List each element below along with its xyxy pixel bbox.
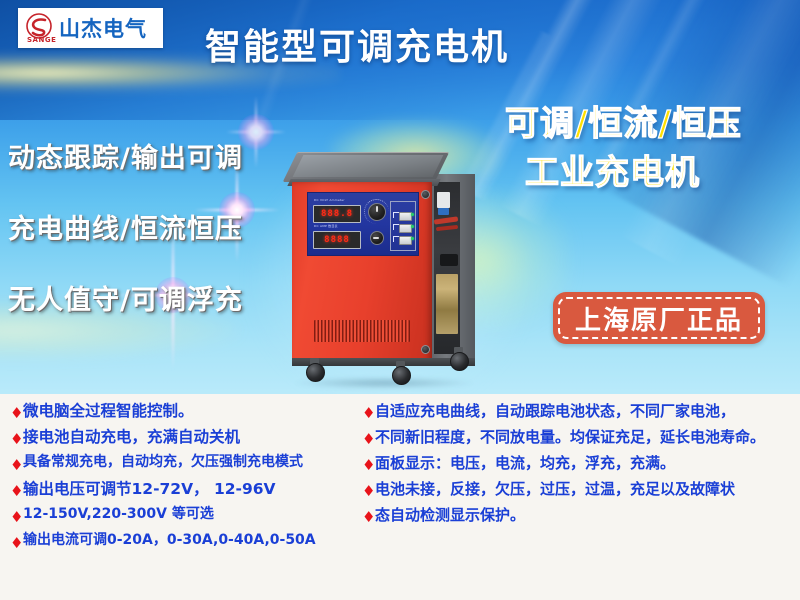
right-feature-item: 工业充电机	[525, 149, 800, 198]
ammeter-value: 8888	[324, 235, 350, 245]
diamond-bullet-icon: ♦	[362, 458, 375, 473]
spec-text: 接电池自动充电，充满自动关机	[23, 428, 240, 447]
blue-terminal-block	[438, 208, 449, 215]
spec-column-left: ♦ 微电脑全过程智能控制。 ♦ 接电池自动充电，充满自动关机 ♦ 具备常规充电，…	[10, 402, 360, 558]
caster-wheel	[450, 352, 469, 371]
spec-text: 态自动检测显示保护。	[375, 506, 525, 524]
right-feature-list: 可调/恒流/恒压 工业充电机	[505, 100, 800, 199]
voltmeter-value: 888.8	[321, 209, 353, 219]
spec-item: ♦ 输出电流可调0-20A，0-30A,0-40A,0-50A	[10, 532, 360, 551]
red-cable	[434, 216, 458, 224]
spec-text: 输出电流可调0-20A，0-30A,0-40A,0-50A	[23, 532, 316, 549]
charger-top-plate-surface	[293, 155, 444, 177]
panel-screw-icon	[421, 345, 430, 354]
product-advertisement-poster: SANGE 山杰电气 智能型可调充电机 动态跟踪/输出可调 充电曲线/恒流恒压 …	[0, 0, 800, 600]
authenticity-badge: 上海原厂正品	[553, 292, 765, 344]
brand-logo-chinese: 山杰电气	[59, 13, 147, 43]
spec-item: ♦ 微电脑全过程智能控制。	[10, 402, 360, 421]
brand-logo-latin: SANGE	[27, 36, 56, 44]
spec-text: 电池未接，反接，欠压，过压，过温，充足以及故障状	[375, 480, 735, 498]
spec-text: 不同新旧程度，不同放电量。均保证充足，延长电池寿命。	[375, 428, 765, 446]
left-feature-item: 无人值守/可调浮充	[8, 278, 288, 317]
control-panel: DC VOLT Ammeter 888.8 DC AMP 数显表 8888	[307, 192, 419, 256]
spec-item: ♦ 不同新旧程度，不同放电量。均保证充足，延长电池寿命。	[362, 428, 798, 447]
mode-switch-equalize[interactable]	[399, 224, 412, 233]
voltmeter-label: DC VOLT Ammeter	[314, 198, 345, 202]
diamond-bullet-icon: ♦	[10, 536, 23, 551]
swirl-logo-icon: SANGE	[22, 11, 56, 45]
badge-label: 上海原厂正品	[575, 300, 743, 337]
spec-item: ♦ 输出电压可调节12-72V， 12-96V	[10, 480, 360, 499]
spec-item: ♦ 面板显示：电压，电流，均充，浮充，充满。	[362, 454, 798, 473]
diamond-bullet-icon: ♦	[362, 510, 375, 525]
mode-switch-panel	[390, 201, 416, 251]
voltage-adjust-knob[interactable]	[368, 203, 386, 221]
ammeter-display: 8888	[313, 231, 361, 249]
diamond-bullet-icon: ♦	[362, 406, 375, 421]
diamond-bullet-icon: ♦	[10, 432, 23, 447]
ammeter-label: DC AMP 数显表	[314, 224, 338, 228]
spec-item: ♦ 具备常规充电，自动均充，欠压强制充电模式	[10, 454, 360, 473]
product-image-charger: DC VOLT Ammeter 888.8 DC AMP 数显表 8888	[284, 152, 484, 390]
black-component	[440, 254, 458, 266]
diamond-bullet-icon: ♦	[10, 406, 23, 421]
hero-banner: SANGE 山杰电气 智能型可调充电机 动态跟踪/输出可调 充电曲线/恒流恒压 …	[0, 0, 800, 394]
brand-logo: SANGE 山杰电气	[18, 8, 163, 48]
spec-text: 12-150V,220-300V 等可选	[23, 506, 214, 523]
spec-item: ♦ 接电池自动充电，充满自动关机	[10, 428, 360, 447]
transformer-coil	[436, 274, 458, 334]
specification-panel: ♦ 微电脑全过程智能控制。 ♦ 接电池自动充电，充满自动关机 ♦ 具备常规充电，…	[0, 394, 800, 600]
spec-text: 面板显示：电压，电流，均充，浮充，充满。	[375, 454, 675, 472]
diamond-bullet-icon: ♦	[362, 432, 375, 447]
ventilation-grille	[314, 320, 410, 342]
page-title: 智能型可调充电机	[205, 18, 509, 70]
voltmeter-display: 888.8	[313, 205, 361, 223]
spec-item: ♦ 自适应充电曲线，自动跟踪电池状态，不同厂家电池，	[362, 402, 798, 421]
diamond-bullet-icon: ♦	[10, 458, 23, 473]
breaker-module-icon	[437, 192, 450, 208]
diamond-bullet-icon: ♦	[10, 510, 23, 525]
current-adjust-knob[interactable]	[370, 231, 384, 245]
mode-switch-normal[interactable]	[399, 212, 412, 221]
mode-switch-float[interactable]	[399, 236, 412, 245]
spec-item: ♦ 态自动检测显示保护。	[362, 506, 798, 525]
caster-wheel	[392, 366, 411, 385]
spec-text: 微电脑全过程智能控制。	[23, 402, 194, 421]
spec-text: 自适应充电曲线，自动跟踪电池状态，不同厂家电池，	[375, 402, 735, 420]
left-feature-list: 动态跟踪/输出可调 充电曲线/恒流恒压 无人值守/可调浮充	[8, 136, 288, 349]
spec-text: 具备常规充电，自动均充，欠压强制充电模式	[23, 454, 303, 471]
left-feature-item: 充电曲线/恒流恒压	[8, 207, 288, 246]
left-feature-item: 动态跟踪/输出可调	[8, 136, 288, 175]
red-cable	[436, 225, 458, 231]
spec-text: 输出电压可调节12-72V， 12-96V	[23, 480, 276, 499]
spec-item: ♦ 电池未接，反接，欠压，过压，过温，充足以及故障状	[362, 480, 798, 499]
caster-wheel	[306, 363, 325, 382]
charger-interior-compartment	[434, 182, 460, 354]
diamond-bullet-icon: ♦	[10, 484, 23, 499]
right-feature-item: 可调/恒流/恒压	[505, 100, 800, 149]
spec-item: ♦ 12-150V,220-300V 等可选	[10, 506, 360, 525]
spec-column-right: ♦ 自适应充电曲线，自动跟踪电池状态，不同厂家电池， ♦ 不同新旧程度，不同放电…	[362, 402, 798, 532]
panel-screw-icon	[421, 190, 430, 199]
charger-front-panel: DC VOLT Ammeter 888.8 DC AMP 数显表 8888	[292, 182, 432, 364]
diamond-bullet-icon: ♦	[362, 484, 375, 499]
